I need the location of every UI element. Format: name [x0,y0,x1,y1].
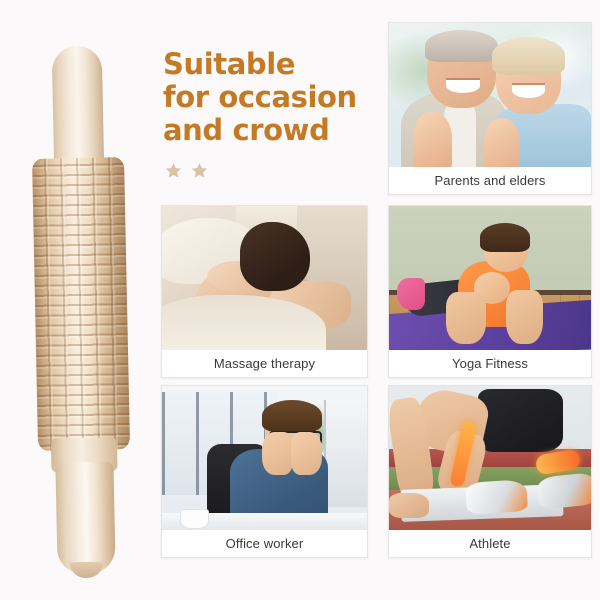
yogi-hair [480,223,531,252]
athlete-hand [389,493,429,519]
senior-man-smile [446,78,480,93]
roller-bottom-tip [69,562,103,579]
photo-parents-and-elders [389,23,591,167]
client-hair-bun [240,222,310,291]
roller-top-handle [52,45,105,172]
running-shoe-back [537,472,591,509]
running-shoe-front [465,479,528,515]
star-decoration [163,162,378,179]
roller-textured-barrel [32,157,130,451]
star-icon [191,162,208,179]
athlete-shorts [478,389,563,452]
use-case-card-office[interactable]: Office worker [161,385,368,558]
photo-yoga-fitness [389,206,591,350]
use-case-card-massage[interactable]: Massage therapy [161,205,368,378]
massage-roller-stick [23,45,138,559]
card-caption: Parents and elders [389,167,591,194]
page-title: Suitable for occasion and crowd [163,48,378,147]
card-caption: Athlete [389,530,591,557]
senior-man-hair [425,30,498,62]
use-case-card-athlete[interactable]: Athlete [388,385,592,558]
yogi-left-arm [446,292,486,344]
use-case-card-yoga[interactable]: Yoga Fitness [388,205,592,378]
product-feature-page: Suitable for occasion and crowd [0,0,600,600]
card-caption: Yoga Fitness [389,350,591,377]
computer-monitor [324,400,367,507]
roller-bottom-handle [55,461,115,574]
photo-office-worker [162,386,367,530]
roller-shading [32,157,130,451]
worker-hair [262,400,321,432]
product-image-area [0,0,160,600]
photo-athlete [389,386,591,530]
headline-block: Suitable for occasion and crowd [163,48,378,179]
worker-right-hand [291,432,322,475]
senior-woman-hair [492,37,565,74]
yogi-right-arm [506,290,542,345]
use-case-card-parents[interactable]: Parents and elders [388,22,592,195]
star-icon [165,162,182,179]
thumbs-up-right [484,118,520,167]
card-caption: Office worker [162,530,367,557]
photo-massage-therapy [162,206,367,350]
coffee-mug [180,509,209,528]
card-caption: Massage therapy [162,350,367,377]
pink-shoe [397,278,425,310]
thumbs-up-left [413,112,451,167]
worker-left-hand [262,432,293,475]
